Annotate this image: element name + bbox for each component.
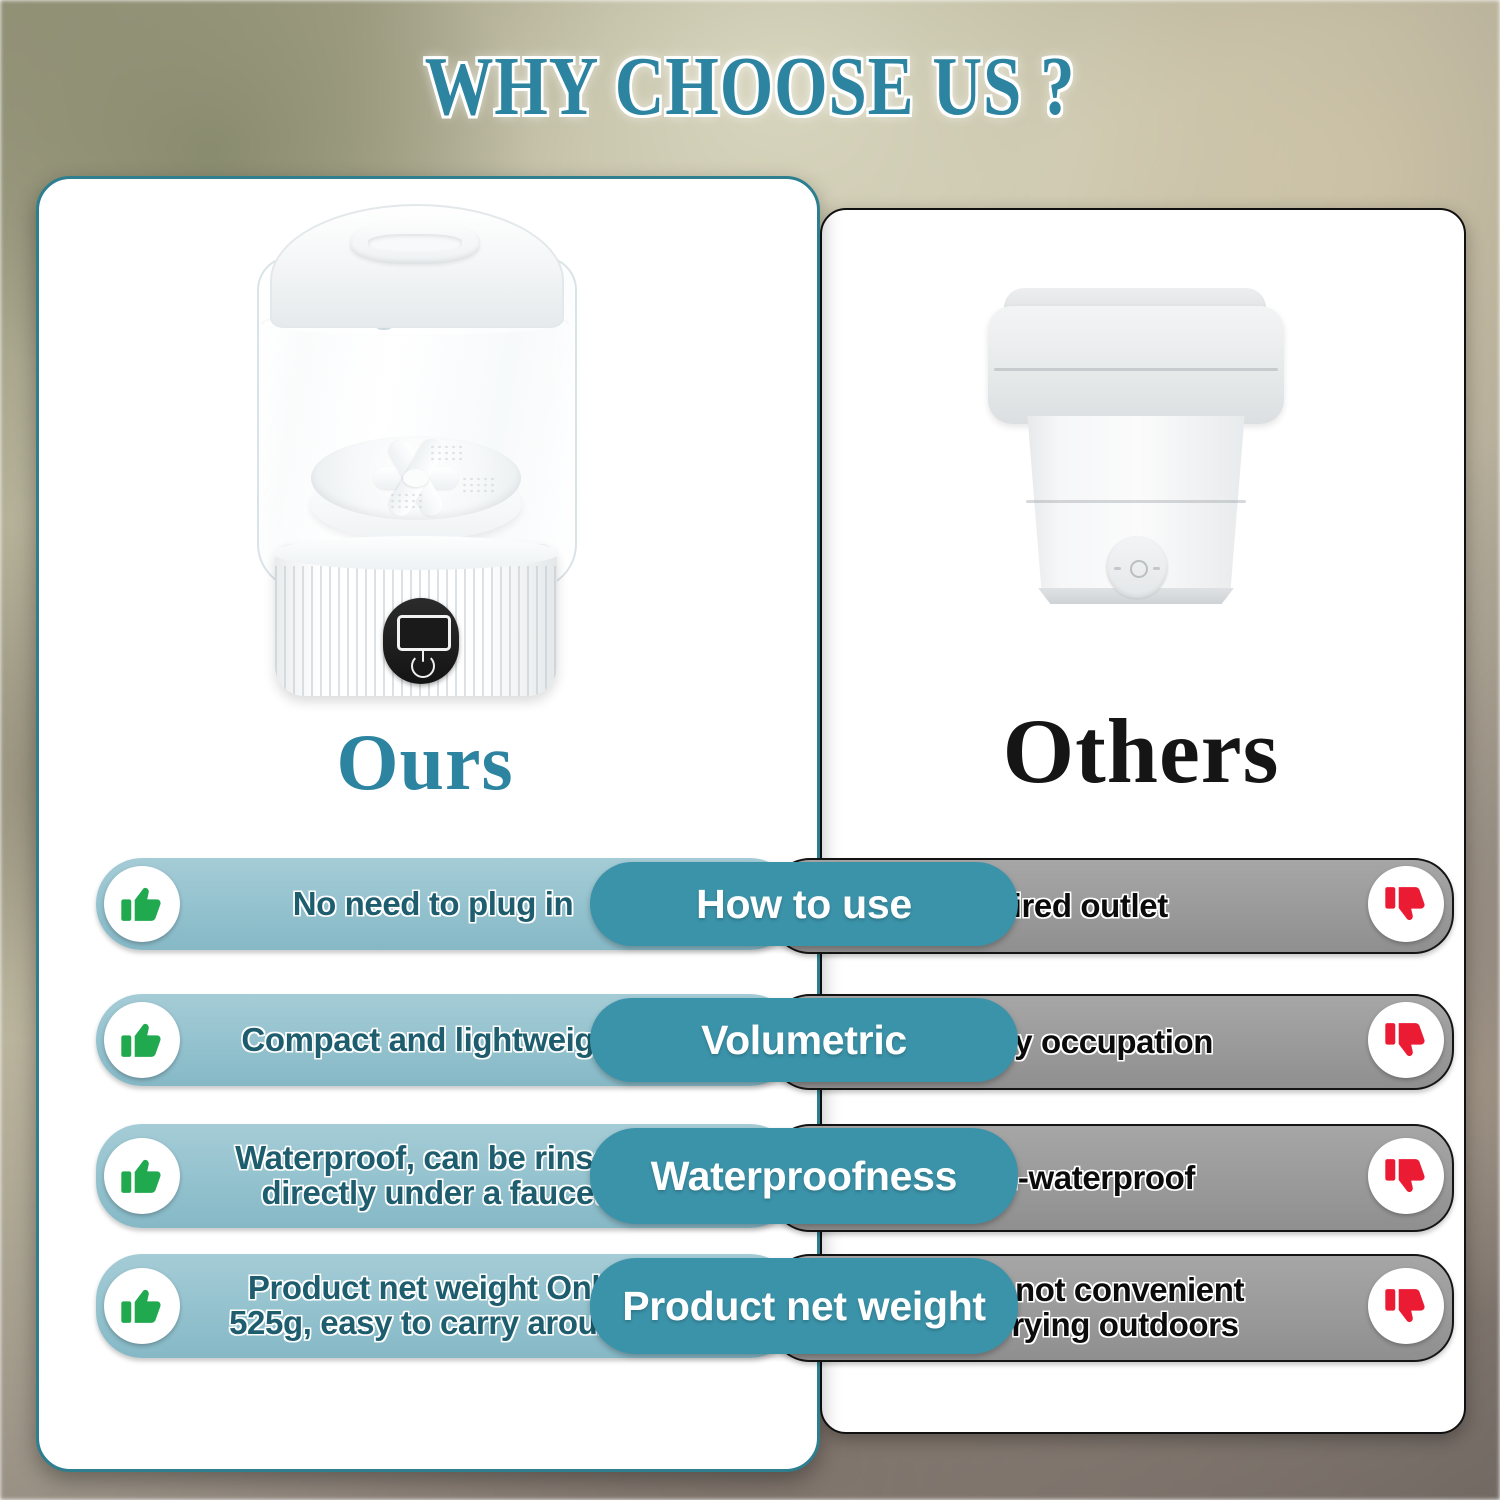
category-pill: Product net weight: [590, 1258, 1018, 1354]
impeller-vent-dots-icon: [429, 444, 463, 464]
thumbs-up-icon: [104, 1268, 180, 1344]
body-seam-icon: [1026, 500, 1246, 503]
thumbs-up-glyph: [119, 1153, 165, 1199]
thumbs-down-glyph: [1383, 1017, 1429, 1063]
category-pill: Volumetric: [590, 998, 1018, 1082]
ours-label: Ours: [36, 718, 814, 809]
thumbs-down-glyph: [1383, 1153, 1429, 1199]
impeller-hub-icon: [403, 469, 429, 487]
comparison-row: Compact and lightweightHeavy occupationV…: [0, 994, 1500, 1086]
thumbs-up-icon: [104, 866, 180, 942]
power-button-icon: [411, 654, 435, 678]
button-marker-icon: [1114, 567, 1121, 570]
display-screen-icon: [397, 615, 451, 651]
impeller-icon: [311, 436, 521, 520]
category-label: How to use: [696, 881, 912, 928]
thumbs-down-icon: [1368, 1268, 1444, 1344]
others-label: Others: [820, 698, 1462, 804]
control-panel-icon: [383, 598, 459, 684]
category-label: Product net weight: [622, 1283, 986, 1330]
category-label: Waterproofness: [651, 1153, 957, 1200]
comparison-row: Product net weight Only525g, easy to car…: [0, 1254, 1500, 1358]
others-product-image: [960, 288, 1310, 628]
ours-product-image: [215, 192, 615, 712]
impeller-vent-dots-icon: [461, 476, 495, 496]
thumbs-down-glyph: [1383, 881, 1429, 927]
base-lip-icon: [273, 536, 559, 570]
round-control-button-icon: [1106, 536, 1168, 598]
thumbs-up-glyph: [119, 1017, 165, 1063]
wide-lid-icon: [988, 306, 1284, 424]
category-pill: Waterproofness: [590, 1128, 1018, 1224]
button-marker-icon: [1153, 567, 1160, 570]
thumbs-up-icon: [104, 1138, 180, 1214]
lid-handle-icon: [350, 218, 480, 264]
comparison-row: Waterproof, can be rinseddirectly under …: [0, 1124, 1500, 1228]
category-pill: How to use: [590, 862, 1018, 946]
category-label: Volumetric: [701, 1017, 907, 1064]
page-title: WHY CHOOSE US ?: [135, 38, 1365, 135]
thumbs-down-icon: [1368, 1002, 1444, 1078]
thumbs-down-icon: [1368, 866, 1444, 942]
thumbs-up-icon: [104, 1002, 180, 1078]
thumbs-up-glyph: [119, 881, 165, 927]
thumbs-down-glyph: [1383, 1283, 1429, 1329]
impeller-vent-dots-icon: [389, 492, 423, 512]
comparison-row: No need to plug inWired outletHow to use: [0, 858, 1500, 950]
thumbs-down-icon: [1368, 1138, 1444, 1214]
thumbs-up-glyph: [119, 1283, 165, 1329]
